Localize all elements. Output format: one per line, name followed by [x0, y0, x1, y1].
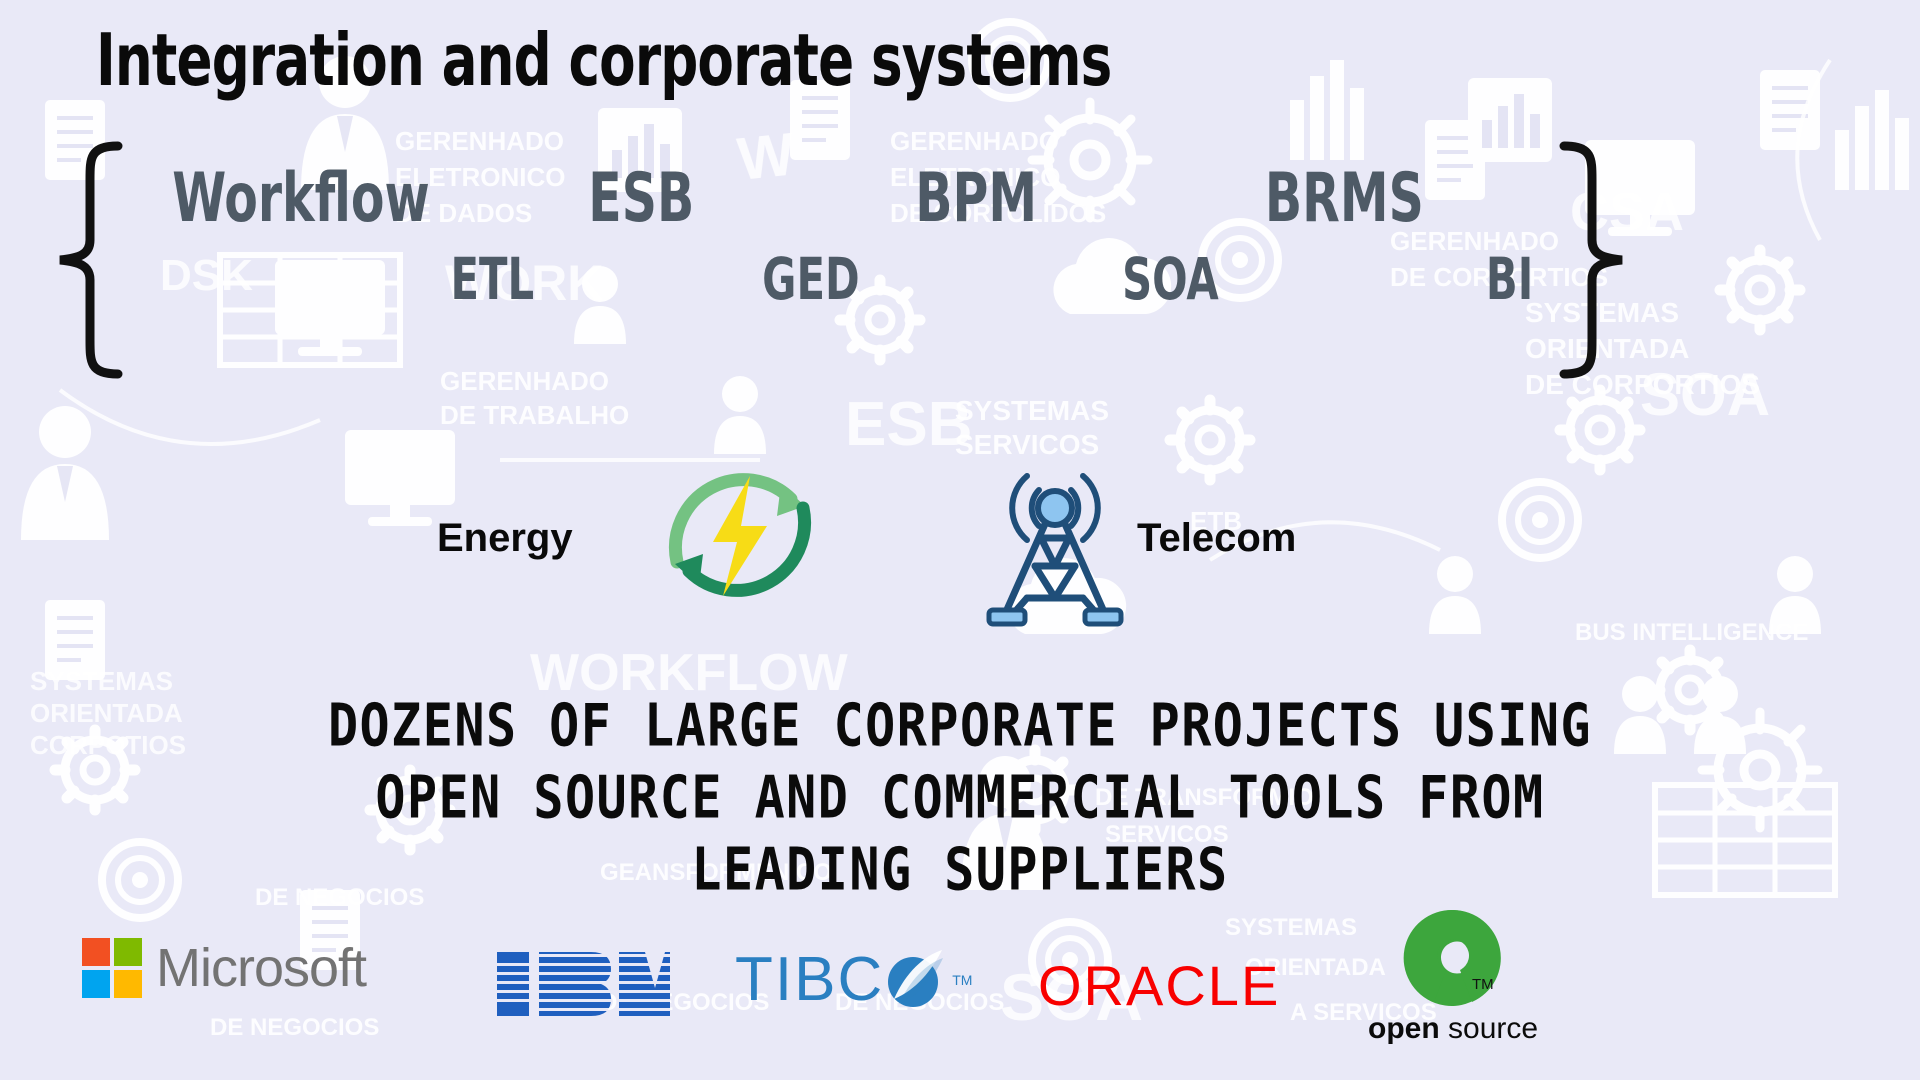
sector-label-energy: Energy [437, 518, 573, 558]
headline-line-1: DOZENS OF LARGE CORPORATE PROJECTS USING [0, 690, 1920, 762]
headline-line-3: LEADING SUPPLIERS [0, 834, 1920, 906]
tech-term-brms: BRMS [1265, 165, 1424, 233]
brace-left [44, 140, 134, 380]
tech-term-etl: ETL [450, 250, 534, 308]
open-source-word-open: open [1368, 1012, 1440, 1045]
slide-root: GERENHADO ELETRONICO DE DADOS GERENHADO … [0, 0, 1920, 1080]
headline-line-2: OPEN SOURCE AND COMMERCIAL TOOLS FROM [0, 762, 1920, 834]
radio-tower-icon [965, 448, 1145, 633]
microsoft-wordmark: Microsoft [156, 941, 366, 995]
oracle-wordmark: ORACLE [1038, 958, 1280, 1014]
open-source-keyhole-icon [1393, 904, 1513, 1012]
energy-recycle-bolt-icon [655, 450, 825, 625]
tech-term-soa: SOA [1122, 250, 1219, 308]
tech-term-bi: BI [1486, 250, 1533, 308]
tech-term-esb: ESB [588, 165, 694, 233]
open-source-wordmark: open source [1368, 1014, 1538, 1044]
vendor-logo-row: Microsoft ® [0, 910, 1920, 1070]
svg-text:SYSTEMAS: SYSTEMAS [955, 395, 1109, 426]
tibco-wordmark: TIBC [735, 949, 884, 1011]
page-title: Integration and corporate systems [96, 24, 1111, 96]
microsoft-squares-icon [82, 938, 142, 998]
ibm-wordmark-icon [495, 948, 670, 1020]
headline-block: DOZENS OF LARGE CORPORATE PROJECTS USING… [0, 690, 1920, 906]
open-source-tm-mark: TM [1472, 976, 1494, 993]
brace-right [1548, 140, 1638, 380]
tech-term-workflow: Workflow [172, 165, 430, 233]
tech-term-ged: GED [762, 250, 859, 308]
svg-text:GERENHADO: GERENHADO [395, 126, 564, 156]
svg-text:BUS INTELLIGENCE: BUS INTELLIGENCE [1575, 619, 1808, 646]
tech-term-bpm: BPM [915, 165, 1037, 233]
svg-text:GERENHADO: GERENHADO [440, 366, 609, 396]
svg-text:SOA: SOA [1640, 361, 1770, 428]
svg-text:DSK: DSK [160, 251, 253, 300]
open-source-word-source: source [1440, 1012, 1538, 1045]
open-source-logo: open source TM [1368, 904, 1538, 1044]
microsoft-logo: Microsoft [82, 938, 366, 998]
oracle-logo: ORACLE [1038, 958, 1280, 1014]
svg-text:W: W [734, 120, 798, 193]
svg-text:GERENHADO: GERENHADO [890, 126, 1059, 156]
svg-text:ESB: ESB [845, 390, 972, 459]
tibco-globe-icon [880, 946, 948, 1014]
sector-label-telecom: Telecom [1137, 518, 1296, 558]
tibco-tm-mark: TM [952, 972, 972, 988]
svg-text:DE TRABALHO: DE TRABALHO [440, 400, 629, 430]
tibco-logo: TIBC TM [735, 946, 972, 1014]
